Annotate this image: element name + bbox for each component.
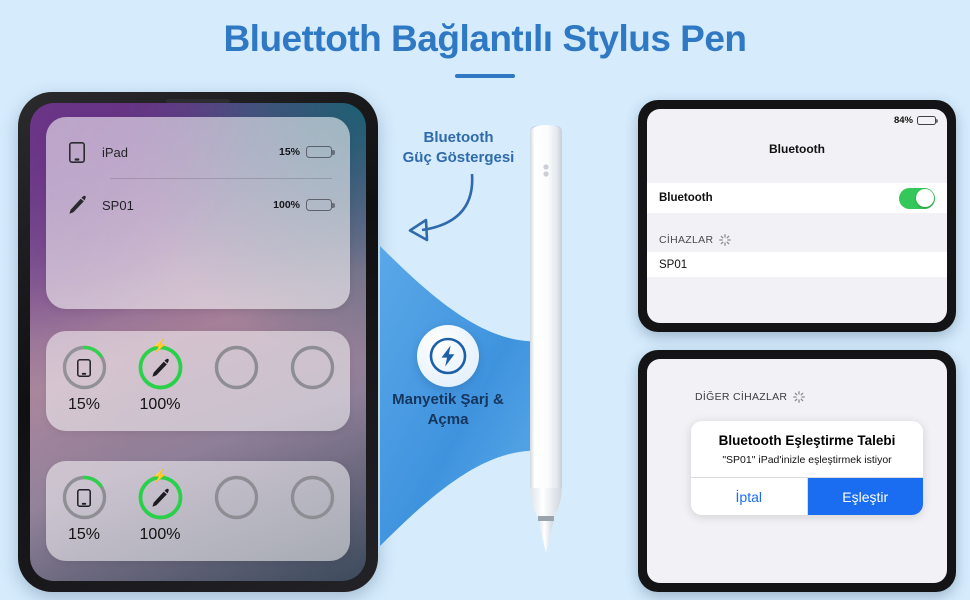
ring-cell-empty-2 [281, 474, 343, 521]
loading-spinner-icon [793, 391, 805, 403]
stylus-icon [137, 344, 184, 391]
battery-ring-empty [213, 344, 260, 391]
battery-ring-empty [213, 474, 260, 521]
annotation-line-2: Güç Göstergesi [386, 148, 531, 168]
lightning-bolt-circle-icon [428, 336, 468, 376]
pairing-request-panel: DİĞER CİHAZLAR Bluetoo [638, 350, 956, 592]
dialog-message: "SP01" iPad'inizle eşleştirmek istiyor [701, 454, 913, 466]
ring-percent: 100% [129, 526, 191, 544]
status-battery-percent: 84% [894, 115, 913, 126]
pair-button[interactable]: Eşleştir [808, 478, 924, 515]
tablet-icon [61, 474, 108, 521]
battery-ring: ⚡ [137, 344, 184, 391]
other-devices-section-header: DİĞER CİHAZLAR [695, 391, 805, 403]
bluetooth-settings-panel: 84% Bluetooth Bluetooth CİHAZLAR [638, 100, 956, 332]
battery-row-percent: 15% [279, 146, 300, 158]
bluetooth-toggle-label: Bluetooth [659, 192, 899, 204]
other-devices-header-label: DİĞER CİHAZLAR [695, 391, 787, 403]
bluetooth-panel-title: Bluetooth [647, 142, 947, 156]
battery-pill-icon [306, 199, 332, 211]
battery-pill-icon [306, 146, 332, 158]
dialog-actions: İptal Eşleştir [691, 477, 923, 515]
device-list-item[interactable]: SP01 [647, 252, 947, 277]
ring-cell-empty-1 [205, 344, 267, 391]
battery-row-label: SP01 [102, 198, 273, 213]
ring-percent: 100% [129, 396, 191, 414]
ring-cell-empty-1 [205, 474, 267, 521]
charging-bolt-icon: ⚡ [152, 469, 168, 482]
status-bar: 84% [894, 115, 936, 126]
ring-percent: 15% [53, 396, 115, 414]
tablet-icon [61, 344, 108, 391]
device-name: SP01 [659, 259, 687, 271]
tablet-screen: iPad 15% SP01 100% [30, 103, 366, 581]
battery-row-ipad: iPad 15% [64, 131, 332, 173]
annotation-line-2: Açma [368, 410, 528, 430]
annotation-bluetooth-power: Bluetooth Güç Göstergesi [386, 128, 531, 169]
charging-bolt-icon: ⚡ [152, 339, 168, 352]
dialog-body: Bluetooth Eşleştirme Talebi "SP01" iPad'… [691, 421, 923, 477]
ring-percent: 15% [53, 526, 115, 544]
annotation-line-1: Manyetik Şarj & [368, 390, 528, 410]
stylus-icon [137, 474, 184, 521]
bluetooth-toggle-switch[interactable] [899, 188, 935, 209]
devices-section-header: CİHAZLAR [659, 234, 731, 246]
dialog-title: Bluetooth Eşleştirme Talebi [701, 433, 913, 448]
battery-list-widget: iPad 15% SP01 100% [46, 117, 350, 309]
poster-stage: Bluettoth Bağlantılı Stylus Pen iPad 15% [0, 0, 970, 600]
battery-row-label: iPad [102, 145, 279, 160]
bluetooth-toggle-row[interactable]: Bluetooth [647, 183, 947, 213]
battery-ring-empty [289, 474, 336, 521]
pairing-panel-screen: DİĞER CİHAZLAR Bluetoo [647, 359, 947, 583]
battery-row-sp01: SP01 100% [64, 184, 332, 226]
widget-divider [110, 178, 332, 179]
ring-cell-sp01: ⚡ 100% [129, 474, 191, 544]
ring-cell-ipad: 15% [53, 474, 115, 544]
page-title: Bluettoth Bağlantılı Stylus Pen [0, 18, 970, 60]
battery-ring-widget-row-1: 15% ⚡ 100% [46, 331, 350, 431]
ring-cell-sp01: ⚡ 100% [129, 344, 191, 414]
title-underline-accent [455, 74, 515, 78]
stylus-icon [64, 195, 90, 215]
cancel-button[interactable]: İptal [691, 478, 808, 515]
battery-ring: ⚡ [137, 474, 184, 521]
ring-cell-ipad: 15% [53, 344, 115, 414]
toggle-knob [916, 189, 934, 207]
devices-header-label: CİHAZLAR [659, 234, 713, 246]
annotation-line-1: Bluetooth [386, 128, 531, 148]
bluetooth-panel-screen: 84% Bluetooth Bluetooth CİHAZLAR [647, 109, 947, 323]
battery-ring [61, 474, 108, 521]
battery-row-percent: 100% [273, 199, 300, 211]
battery-ring [61, 344, 108, 391]
loading-spinner-icon [719, 234, 731, 246]
tablet-icon [64, 142, 90, 163]
bluetooth-pairing-dialog: Bluetooth Eşleştirme Talebi "SP01" iPad'… [691, 421, 923, 515]
ring-cell-empty-2 [281, 344, 343, 391]
magnetic-charge-badge [417, 325, 479, 387]
battery-ring-empty [289, 344, 336, 391]
curved-arrow-left-icon [390, 172, 480, 242]
battery-ring-widget-row-2: 15% ⚡ 100% [46, 461, 350, 561]
annotation-magnetic-charge: Manyetik Şarj & Açma [368, 390, 528, 431]
stylus-pen [524, 110, 568, 560]
status-battery-icon [917, 116, 936, 126]
